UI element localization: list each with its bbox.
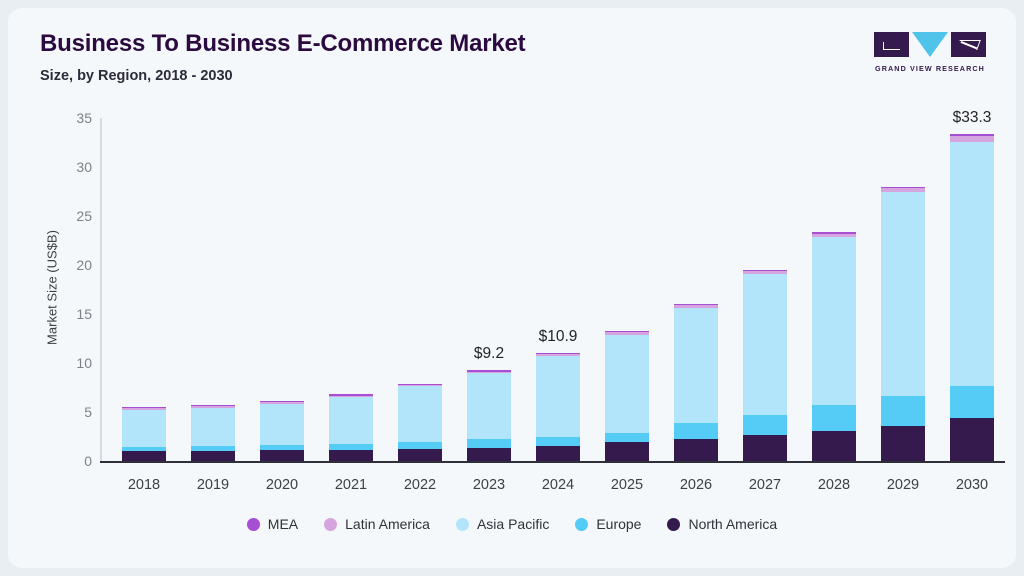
bar-segment-asia-pacific[interactable] [536,356,580,436]
bar-2029[interactable] [881,187,925,461]
bar-segment-asia-pacific[interactable] [122,410,166,447]
bar-segment-europe[interactable] [605,433,649,443]
legend-label: North America [688,516,777,532]
x-axis-tick-2025: 2025 [592,477,662,493]
bar-segment-europe[interactable] [812,405,856,430]
legend-item-asia-pacific[interactable]: Asia Pacific [456,516,549,532]
x-axis-tick-2028: 2028 [799,477,869,493]
x-axis-tick-2030: 2030 [937,477,1007,493]
bar-segment-europe[interactable] [467,439,511,447]
bar-segment-north-america[interactable] [467,448,511,461]
x-axis-tick-2026: 2026 [661,477,731,493]
bar-segment-europe[interactable] [398,442,442,449]
bar-2024[interactable] [536,353,580,461]
bar-segment-asia-pacific[interactable] [605,335,649,433]
x-axis-tick-2019: 2019 [178,477,248,493]
bar-2021[interactable] [329,394,373,461]
bar-2028[interactable] [812,232,856,461]
bar-2022[interactable] [398,384,442,461]
bar-2026[interactable] [674,304,718,461]
bar-segment-north-america[interactable] [260,450,304,461]
bar-segment-asia-pacific[interactable] [398,386,442,442]
legend-item-mea[interactable]: MEA [247,516,298,532]
bar-segment-asia-pacific[interactable] [674,308,718,423]
chart-legend: MEALatin AmericaAsia PacificEuropeNorth … [8,516,1016,532]
bar-segment-north-america[interactable] [605,442,649,461]
bar-segment-north-america[interactable] [191,451,235,461]
legend-label: MEA [268,516,298,532]
bar-2030[interactable] [950,134,994,461]
bar-2023[interactable] [467,370,511,461]
bar-segment-europe[interactable] [950,386,994,418]
bar-value-label-2024: $10.9 [513,328,603,346]
bar-segment-europe[interactable] [743,415,787,435]
bar-segment-north-america[interactable] [398,449,442,461]
legend-swatch-icon [247,518,260,531]
bar-segment-north-america[interactable] [950,418,994,461]
x-axis-tick-2021: 2021 [316,477,386,493]
legend-swatch-icon [324,518,337,531]
x-axis-tick-2018: 2018 [109,477,179,493]
x-axis-tick-2020: 2020 [247,477,317,493]
x-axis-tick-2029: 2029 [868,477,938,493]
legend-label: Europe [596,516,641,532]
bar-segment-asia-pacific[interactable] [950,142,994,386]
legend-item-europe[interactable]: Europe [575,516,641,532]
bar-value-label-2030: $33.3 [927,109,1017,127]
bar-segment-north-america[interactable] [122,451,166,461]
chart-plot-area: Market Size (US$B) 05101520253035 201820… [8,8,1016,568]
bar-segment-asia-pacific[interactable] [260,404,304,446]
bar-segment-north-america[interactable] [812,431,856,461]
chart-card: Business To Business E-Commerce Market S… [8,8,1016,568]
legend-swatch-icon [456,518,469,531]
legend-swatch-icon [667,518,680,531]
bar-2019[interactable] [191,405,235,461]
x-axis-tick-2024: 2024 [523,477,593,493]
bar-segment-north-america[interactable] [743,435,787,461]
bar-segment-asia-pacific[interactable] [191,408,235,447]
bar-segment-north-america[interactable] [329,450,373,461]
bar-segment-europe[interactable] [674,423,718,439]
bar-segment-north-america[interactable] [674,439,718,461]
bar-value-label-2023: $9.2 [444,345,534,363]
x-axis-tick-2022: 2022 [385,477,455,493]
bar-segment-asia-pacific[interactable] [743,274,787,415]
x-axis-tick-2027: 2027 [730,477,800,493]
legend-label: Latin America [345,516,430,532]
legend-swatch-icon [575,518,588,531]
bar-segment-europe[interactable] [536,437,580,447]
bar-2025[interactable] [605,331,649,461]
bar-segment-north-america[interactable] [536,446,580,461]
legend-item-north-america[interactable]: North America [667,516,777,532]
legend-label: Asia Pacific [477,516,549,532]
bar-2018[interactable] [122,407,166,461]
bar-segment-asia-pacific[interactable] [329,397,373,444]
x-axis-tick-2023: 2023 [454,477,524,493]
legend-item-latin-america[interactable]: Latin America [324,516,430,532]
bar-segment-asia-pacific[interactable] [812,237,856,405]
bar-2020[interactable] [260,401,304,461]
bar-segment-north-america[interactable] [881,426,925,461]
bar-series-container: 201820192020202120222023$9.22024$10.9202… [8,8,1016,568]
bar-segment-europe[interactable] [881,396,925,425]
bar-segment-asia-pacific[interactable] [467,373,511,439]
bar-2027[interactable] [743,270,787,461]
bar-segment-asia-pacific[interactable] [881,192,925,396]
